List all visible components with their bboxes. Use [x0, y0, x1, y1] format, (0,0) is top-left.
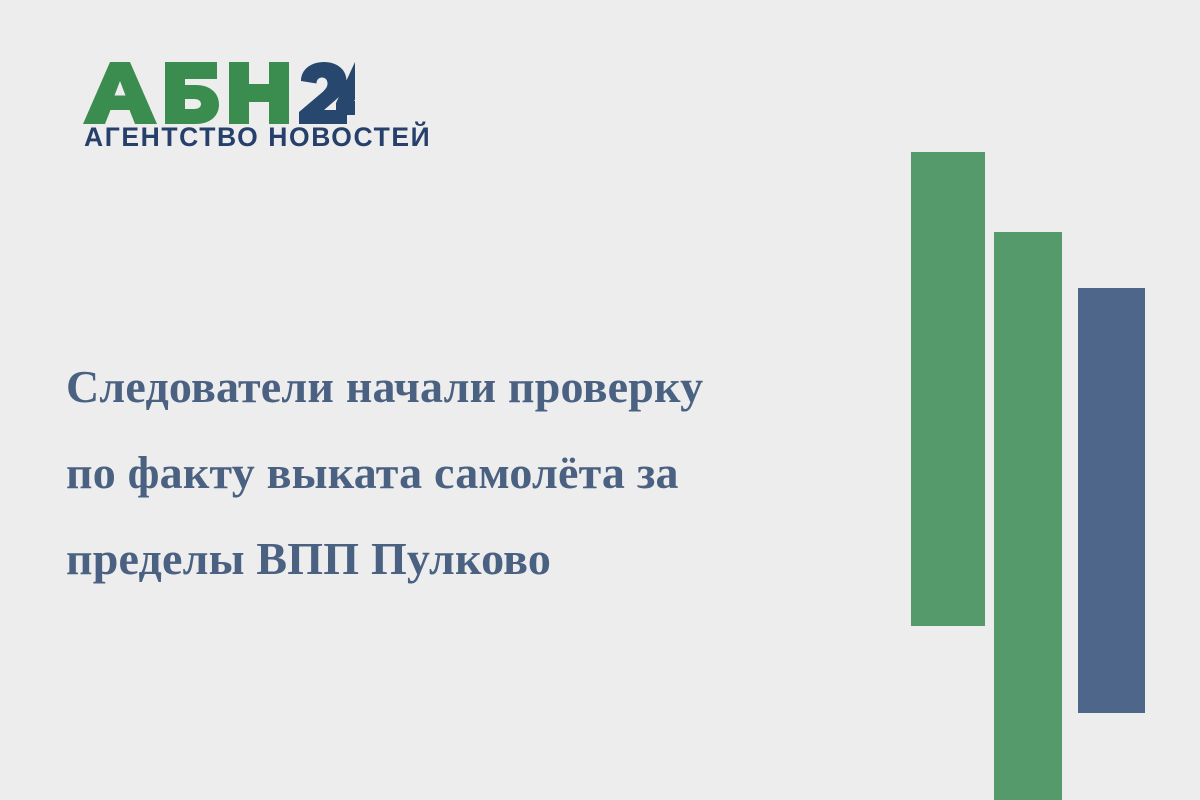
headline: Следователи начали проверку по факту вык…	[66, 344, 866, 602]
bar-1	[911, 152, 985, 626]
bar-2	[994, 232, 1062, 800]
abn24-logo[interactable]: АГЕНТСТВО НОВОСТЕЙ	[83, 62, 373, 158]
logo-tagline: АГЕНТСТВО НОВОСТЕЙ	[84, 124, 431, 151]
headline-line-3: пределы ВПП Пулково	[66, 516, 866, 602]
news-card: АГЕНТСТВО НОВОСТЕЙ Следователи начали пр…	[0, 0, 1200, 800]
abn24-wordmark-icon	[83, 62, 355, 124]
headline-line-2: по факту выката самолёта за	[66, 430, 866, 516]
bar-3	[1078, 288, 1145, 713]
headline-line-1: Следователи начали проверку	[66, 344, 866, 430]
